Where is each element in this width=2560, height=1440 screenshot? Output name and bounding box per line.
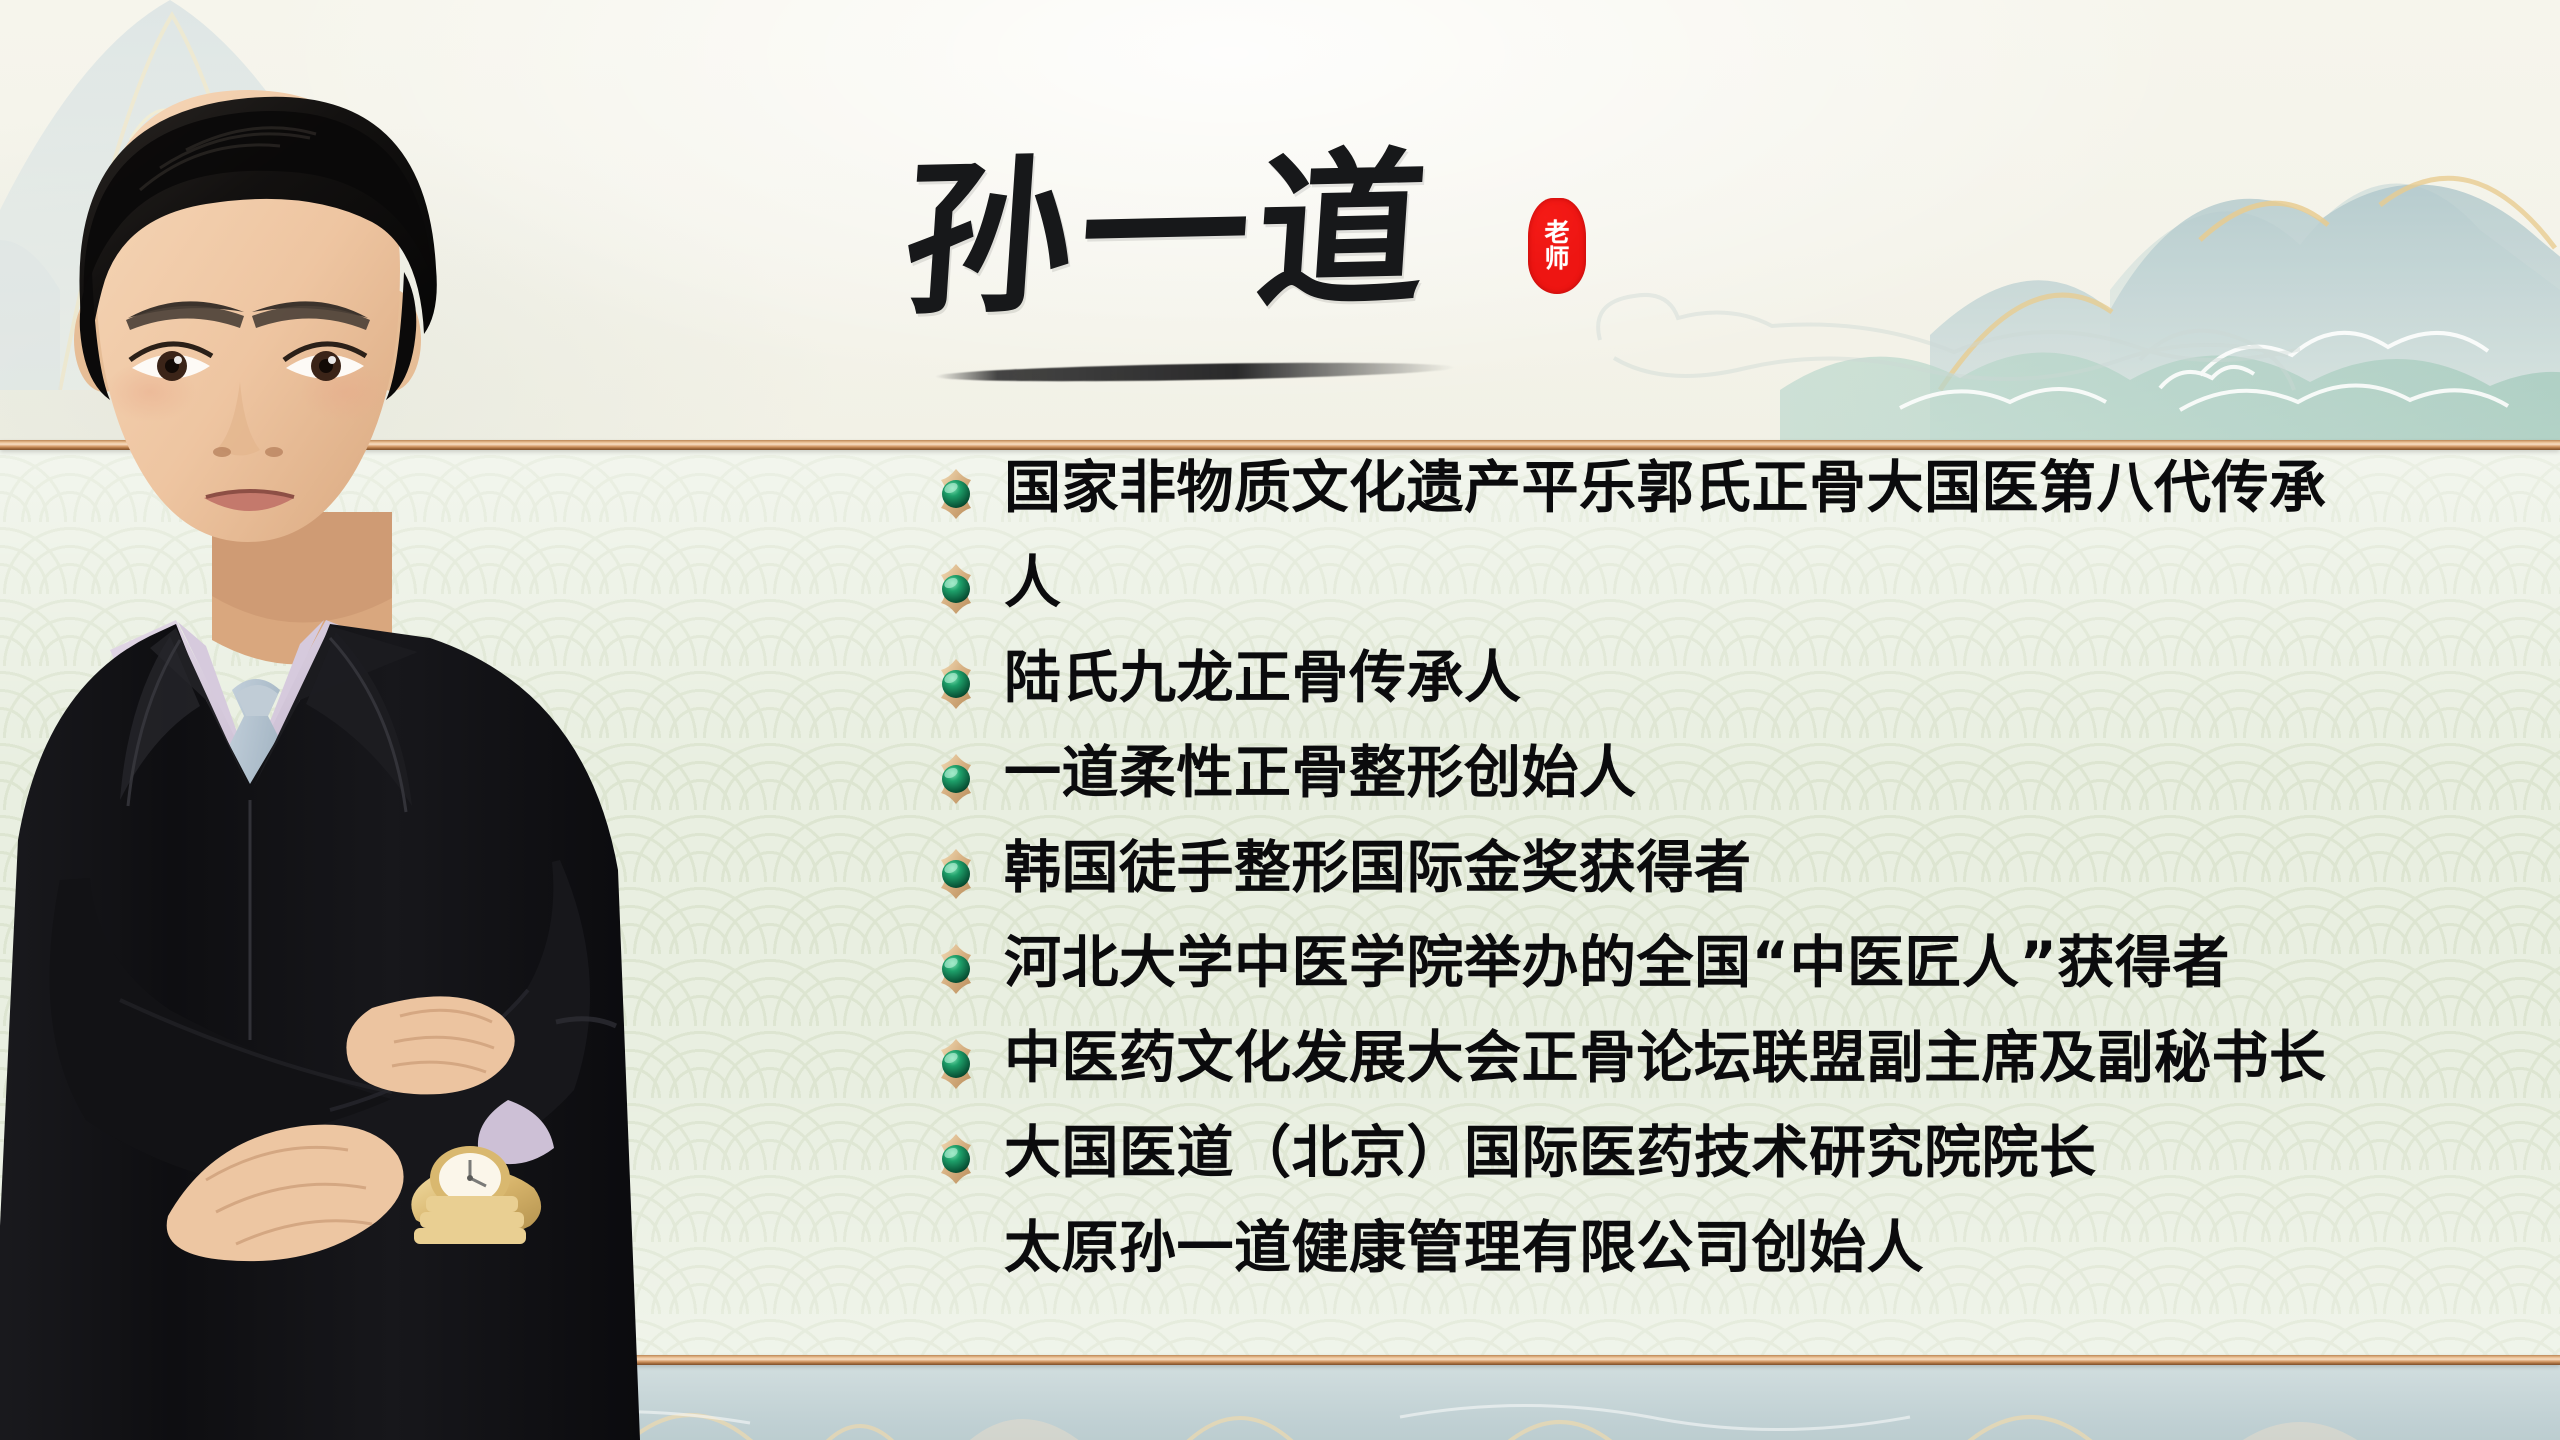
- auspicious-cloud-icon: [1580, 230, 2300, 430]
- list-item[interactable]: 人: [930, 547, 2530, 642]
- credential-text: 太原孙一道健康管理有限公司创始人: [1004, 1212, 1924, 1277]
- list-item[interactable]: 陆氏九龙正骨传承人: [930, 642, 2530, 737]
- seal-char-2: 师: [1544, 247, 1569, 272]
- teacher-seal-stamp: 老 师: [1528, 198, 1586, 294]
- credential-text: 中医药文化发展大会正骨论坛联盟副主席及副秘书长: [1004, 1022, 2327, 1087]
- bullet-placeholder: [930, 1228, 1004, 1280]
- brush-stroke-accent: [935, 359, 1455, 384]
- landscape-decoration-top-left-icon: [0, 0, 500, 390]
- credential-text: 大国医道（北京）国际医药技术研究院院长: [1004, 1117, 2097, 1182]
- credential-text: 陆氏九龙正骨传承人: [1004, 642, 1522, 707]
- list-item[interactable]: 韩国徒手整形国际金奖获得者: [930, 832, 2530, 927]
- jade-gem-bullet-icon: [930, 753, 982, 805]
- list-item[interactable]: 国家非物质文化遗产平乐郭氏正骨大国医第八代传承: [930, 452, 2530, 547]
- credential-text: 一道柔性正骨整形创始人: [1004, 737, 1637, 802]
- seal-char-1: 老: [1544, 221, 1569, 246]
- credentials-list: 国家非物质文化遗产平乐郭氏正骨大国医第八代传承 人 陆氏九龙正骨传承人: [930, 452, 2530, 1307]
- jade-gem-bullet-icon: [930, 563, 982, 615]
- list-item[interactable]: 中医药文化发展大会正骨论坛联盟副主席及副秘书长: [930, 1022, 2530, 1117]
- credential-text: 韩国徒手整形国际金奖获得者: [1004, 832, 1752, 897]
- jade-gem-bullet-icon: [930, 943, 982, 995]
- credential-text: 人: [1004, 547, 1062, 612]
- calligraphy-name: 孙一道: [899, 144, 1439, 323]
- header-band: 孙一道 老 师: [0, 0, 2560, 446]
- landscape-decoration-bottom-icon: [0, 1365, 2560, 1440]
- divider-bottom: [0, 1355, 2560, 1365]
- slide-canvas: 孙一道 老 师: [0, 0, 2560, 1440]
- jade-gem-bullet-icon: [930, 848, 982, 900]
- list-item[interactable]: 河北大学中医学院举办的全国“中医匠人”获得者: [930, 927, 2530, 1022]
- list-item[interactable]: 太原孙一道健康管理有限公司创始人: [930, 1212, 2530, 1307]
- credential-text: 河北大学中医学院举办的全国“中医匠人”获得者: [1004, 927, 2230, 992]
- list-item[interactable]: 一道柔性正骨整形创始人: [930, 737, 2530, 832]
- jade-gem-bullet-icon: [930, 1133, 982, 1185]
- list-item[interactable]: 大国医道（北京）国际医药技术研究院院长: [930, 1117, 2530, 1212]
- jade-gem-bullet-icon: [930, 468, 982, 520]
- jade-gem-bullet-icon: [930, 658, 982, 710]
- divider-top: [0, 440, 2560, 450]
- title-block: 孙一道: [905, 150, 1565, 410]
- jade-gem-bullet-icon: [930, 1038, 982, 1090]
- credential-text: 国家非物质文化遗产平乐郭氏正骨大国医第八代传承: [1004, 452, 2327, 517]
- bottom-band: [0, 1365, 2560, 1440]
